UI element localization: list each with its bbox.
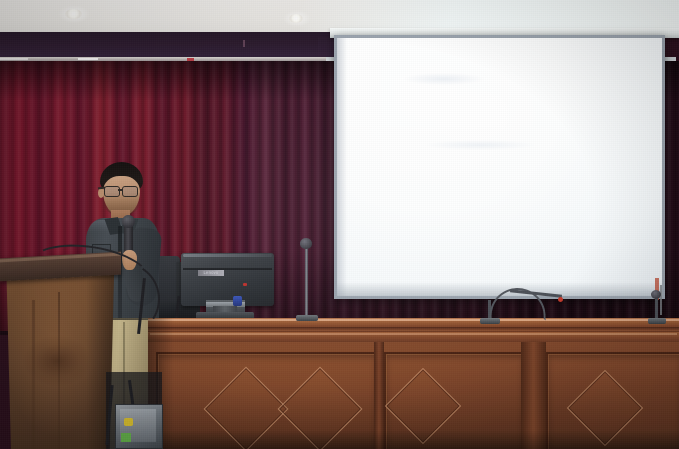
lectern-wood-grain-a bbox=[32, 300, 35, 449]
blue-cable-clip bbox=[233, 296, 242, 306]
screen-left-shading bbox=[337, 38, 347, 296]
gooseneck-mic-far-right-head bbox=[651, 290, 661, 299]
screen-faint-mark-a bbox=[404, 73, 484, 85]
glasses-bridge bbox=[118, 189, 122, 191]
screen-pull-cord bbox=[660, 285, 662, 315]
curtain-rail-highlight-a bbox=[78, 58, 98, 60]
table-trim-highlight bbox=[150, 333, 677, 335]
gooseneck-mic-far-right-base bbox=[648, 318, 666, 324]
conference-room-photo: Lenovo A bbox=[0, 0, 679, 449]
wall-valance-band bbox=[0, 32, 330, 58]
handheld-microphone-head bbox=[122, 215, 135, 228]
monitor-top-highlight bbox=[183, 254, 272, 257]
monitor-seam bbox=[183, 268, 272, 270]
gooseneck-mic-center-base bbox=[296, 315, 318, 321]
curtain-rail-highlight-b bbox=[0, 58, 28, 60]
green-connector-icon bbox=[121, 433, 131, 442]
glasses-right-lens bbox=[122, 186, 138, 197]
screen-faint-mark-b bbox=[425, 140, 535, 150]
yellow-connector-icon bbox=[124, 418, 133, 426]
valance-speck bbox=[243, 40, 245, 47]
monitor-brand-logo: Lenovo bbox=[198, 270, 224, 276]
table-groove bbox=[148, 327, 679, 331]
downlight-center-icon bbox=[289, 14, 303, 23]
table-bottom-shading bbox=[148, 430, 679, 449]
gooseneck-mic-right-led-icon bbox=[558, 297, 563, 302]
table-top-highlight bbox=[148, 319, 679, 321]
lectern-wood-grain-b bbox=[58, 292, 60, 449]
downlight-left-icon bbox=[65, 9, 82, 19]
gooseneck-mic-right-base bbox=[480, 318, 500, 324]
monitor-power-led-icon bbox=[243, 283, 247, 286]
gooseneck-mic-center-head bbox=[300, 238, 312, 249]
gooseneck-mic-center-post bbox=[305, 245, 308, 319]
glasses-left-lens bbox=[104, 186, 120, 197]
